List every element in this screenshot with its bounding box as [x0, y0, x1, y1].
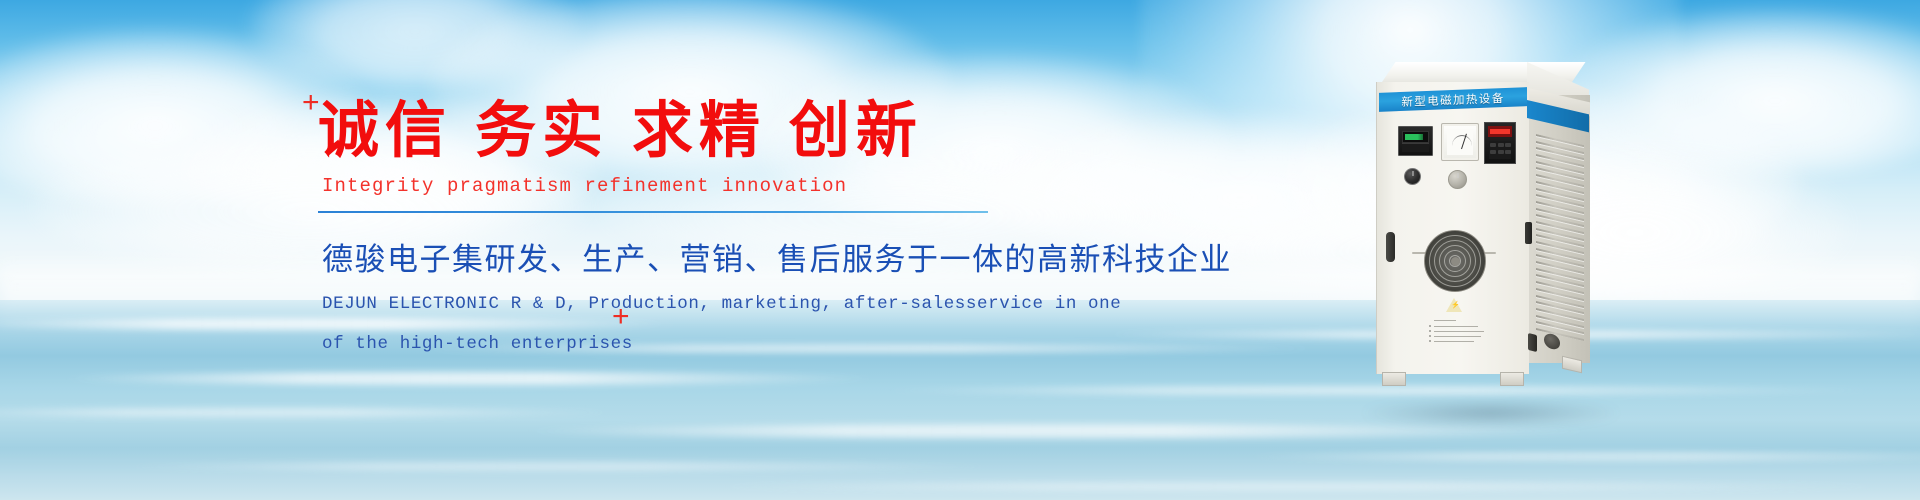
tagline-english-line-1: DEJUN ELECTRONIC R & D, Production, mark… [322, 290, 1232, 318]
placard-bullet [1429, 335, 1431, 337]
machine-foot [1500, 372, 1524, 386]
wave-highlight [700, 482, 1900, 491]
wave-highlight [520, 424, 1600, 438]
control-knob-icon [1448, 170, 1467, 189]
cloud [250, 0, 580, 90]
placard-bullet [1429, 340, 1431, 342]
placard-line [1434, 326, 1478, 327]
keypad-key [1490, 150, 1496, 154]
keypad-key [1490, 143, 1496, 147]
meter-dial [1447, 129, 1473, 155]
fan-grille-icon [1424, 230, 1486, 292]
machine-foot [1382, 372, 1406, 386]
plus-decoration-icon: + [302, 88, 320, 118]
headline-english: Integrity pragmatism refinement innovati… [322, 175, 1232, 197]
keypad-panel-icon [1484, 122, 1516, 164]
placard-line [1434, 331, 1484, 332]
placard-line [1434, 336, 1481, 337]
machine-handle [1386, 232, 1395, 262]
placard-line [1434, 341, 1474, 342]
tagline-chinese: 德骏电子集研发、生产、营销、售后服务于一体的高新科技企业 [322, 234, 1232, 279]
keypad-key [1505, 143, 1511, 147]
placard-line [1434, 320, 1456, 321]
divider-line [318, 211, 988, 213]
keypad-key [1498, 150, 1504, 154]
keypad-keys [1489, 141, 1511, 159]
placard-bullet [1429, 325, 1431, 327]
control-knob-icon [1404, 168, 1421, 185]
side-connector-port [1528, 333, 1537, 352]
headline-chinese: 诚信 务实 求精 创新 [318, 96, 1232, 164]
cloud [1560, 10, 1920, 175]
fan-hub [1451, 257, 1460, 266]
digital-display [1402, 131, 1429, 143]
hero-banner: + + 诚信 务实 求精 创新 Integrity pragmatism ref… [0, 0, 1920, 500]
keypad-display [1488, 126, 1512, 137]
machine-label-text: 新型电磁加热设备 [1401, 90, 1504, 110]
banner-copy-block: 诚信 务实 求精 创新 Integrity pragmatism refinem… [318, 96, 1232, 358]
wave-highlight [120, 462, 1000, 471]
tagline-english-line-2: of the high-tech enterprises [322, 330, 1232, 358]
controller-buttons [1402, 143, 1429, 152]
analog-meter-icon [1442, 124, 1478, 160]
machine-spec-placard [1434, 320, 1486, 350]
digital-controller-icon [1398, 126, 1433, 156]
wave-highlight [60, 372, 880, 385]
side-ventilation-louvers [1536, 134, 1584, 341]
warning-triangle-icon [1446, 298, 1462, 312]
keypad-key [1498, 143, 1504, 147]
product-image-heating-equipment: 新型电磁加热设备 [1376, 62, 1608, 410]
placard-bullet [1429, 330, 1431, 332]
keypad-key [1505, 150, 1511, 154]
machine-door-latch [1525, 222, 1532, 244]
